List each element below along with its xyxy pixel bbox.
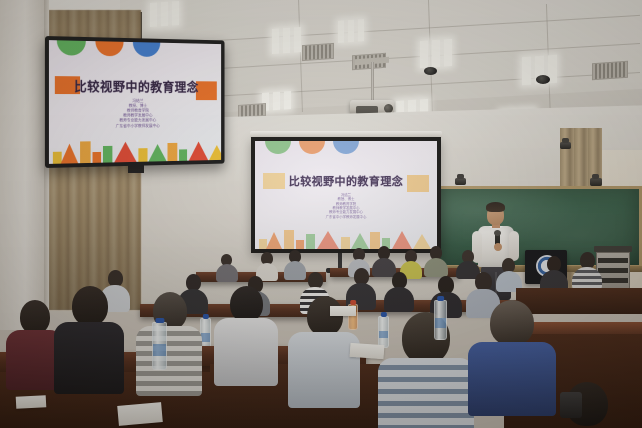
audience-member-foreground <box>214 286 278 382</box>
water-bottle <box>152 322 167 370</box>
slide-decor-bar <box>103 146 112 163</box>
tv-screen: 比较视野中的教育理念 冯结兰 教授、博士 教师教育学院 教师教学发展中心 教师专… <box>49 40 221 164</box>
slide-projected: 比较视野中的教育理念 冯结兰 教授、博士 教师教育学院 教师教学发展中心 教师专… <box>255 141 437 249</box>
presenter-arm-right <box>509 231 519 261</box>
water-bottle <box>434 300 447 340</box>
slide-decor-triangle <box>317 231 339 249</box>
slide-decor-half-circle <box>57 40 86 55</box>
paper-sheet <box>16 395 47 409</box>
slide-decor-triangle <box>114 142 136 163</box>
projection-screen-surface: 比较视野中的教育理念 冯结兰 教授、博士 教师教育学院 教师教学发展中心 教师专… <box>255 141 437 249</box>
ceiling-speaker <box>424 67 437 75</box>
tv-wall-mount <box>128 165 144 173</box>
audience-member-foreground <box>468 300 556 412</box>
paper-sheet <box>350 343 385 359</box>
ceiling-air-vent <box>592 61 628 81</box>
presenter-hair <box>486 202 505 212</box>
slide-decor-bar <box>138 148 147 162</box>
projector-mount-pole <box>371 62 374 104</box>
slide-decor-triangle <box>266 232 282 249</box>
projection-screen: 比较视野中的教育理念 冯结兰 教授、博士 教师教育学院 教师教学发展中心 教师专… <box>251 137 441 253</box>
audience-member <box>384 272 414 310</box>
slide-decor-half-circle <box>133 42 160 57</box>
slide-decor-bar <box>80 141 91 163</box>
slide-subtitle: 冯结兰 教授、博士 教师教育学院 教师教学发展中心 教师专业能力发展中心 广东省… <box>49 98 221 129</box>
slide-decor-triangle <box>61 143 78 163</box>
audience-member <box>540 256 568 290</box>
wall-mounted-television: 比较视野中的教育理念 冯结兰 教授、博士 教师教育学院 教师教学发展中心 教师专… <box>45 36 225 168</box>
audience-member <box>216 254 238 280</box>
slide-decor-half-circle <box>333 141 359 154</box>
rack-slot <box>598 278 628 283</box>
slide-decor-bar <box>179 149 187 161</box>
audience-member <box>424 246 448 276</box>
slide-decor-half-circle <box>265 141 291 154</box>
slide-title: 比较视野中的教育理念 <box>255 173 437 189</box>
audience-member-foreground <box>54 286 124 390</box>
audience-member-foreground <box>136 292 202 392</box>
paper-sheet <box>117 402 163 426</box>
slide-decor-bar <box>93 152 102 163</box>
thermos-cup <box>560 392 582 418</box>
ceiling-light-fixture <box>338 19 364 43</box>
slide-decor-triangle <box>351 233 369 249</box>
microphone-head <box>494 230 501 236</box>
wall-speaker <box>590 178 602 186</box>
wall-camera-icon <box>560 142 571 149</box>
wall-speaker <box>455 178 466 185</box>
slide-decor-bar <box>306 234 315 249</box>
audience-member-foreground <box>378 312 474 428</box>
ceiling-light-fixture <box>420 39 452 68</box>
slide-tv: 比较视野中的教育理念 冯结兰 教授、博士 教师教育学院 教师教学发展中心 教师专… <box>49 40 221 164</box>
slide-subtitle: 冯结兰 教授、博士 教师教育学院 教师教学发展中心 教师专业能力发展中心 广东省… <box>255 193 437 219</box>
slide-decor-half-circle <box>95 41 123 56</box>
audience-member <box>256 252 278 279</box>
rack-slot <box>598 258 628 263</box>
slide-decor-bar <box>296 240 304 249</box>
slide-decor-triangle <box>148 144 166 162</box>
slide-decor-bar <box>167 143 177 161</box>
slide-decor-half-circle <box>299 141 325 154</box>
slide-decor-triangle <box>209 145 221 160</box>
left-pillar <box>0 0 46 330</box>
ceiling-light-fixture <box>272 27 301 54</box>
paper-sheet <box>330 306 356 316</box>
lecture-hall-photo: 比较视野中的教育理念 冯结兰 教授、博士 教师教育学院 教师教学发展中心 教师专… <box>0 0 642 428</box>
ceiling-speaker <box>536 75 550 84</box>
presenter-hand <box>494 243 502 251</box>
rack-slot <box>598 268 628 273</box>
ceiling-light-fixture <box>150 1 179 27</box>
audience-member <box>572 252 602 288</box>
slide-title: 比较视野中的教育理念 <box>49 76 221 95</box>
ceiling-air-vent <box>302 43 334 61</box>
slide-decor-bar <box>284 230 294 249</box>
slide-decor-triangle <box>189 141 208 160</box>
ceiling-light-fixture <box>262 91 291 111</box>
